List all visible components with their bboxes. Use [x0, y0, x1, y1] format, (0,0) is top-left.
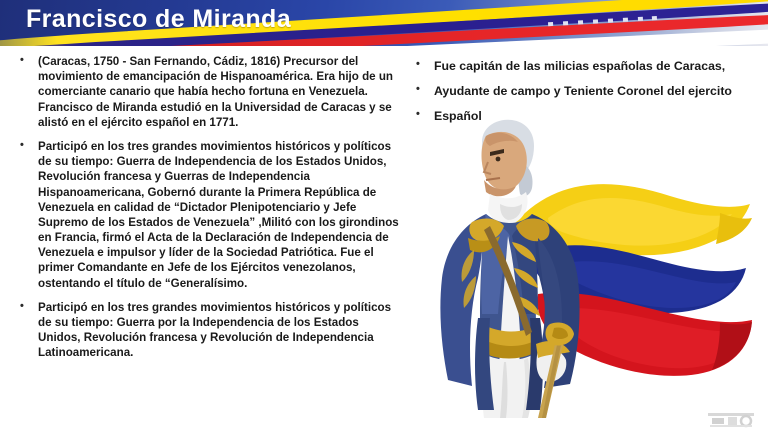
right-bullet-list: Fue capitán de las milicias españolas de…: [410, 58, 762, 124]
list-item: Participó en los tres grandes movimiento…: [14, 300, 404, 361]
list-item: Fue capitán de las milicias españolas de…: [410, 58, 762, 74]
flag-star: [593, 19, 598, 23]
left-bullet-list: (Caracas, 1750 - San Fernando, Cádiz, 18…: [14, 54, 404, 361]
flag-star: [563, 21, 568, 25]
watermark-logo: [706, 409, 758, 429]
flag-star: [548, 22, 553, 26]
list-item: Ayudante de campo y Teniente Coronel del…: [410, 83, 762, 99]
slide-header-banner: Francisco de Miranda: [0, 0, 768, 46]
flag-star: [578, 20, 583, 24]
flag-star: [608, 18, 613, 22]
flag-star: [652, 16, 657, 20]
slide: Francisco de Miranda (Caracas, 1750 - Sa…: [0, 0, 768, 433]
flag-star: [623, 18, 628, 22]
miranda-portrait-illustration: [420, 118, 768, 418]
list-item: Participó en los tres grandes movimiento…: [14, 139, 404, 291]
flag-star: [638, 17, 643, 21]
list-item: (Caracas, 1750 - San Fernando, Cádiz, 18…: [14, 54, 404, 130]
page-title: Francisco de Miranda: [26, 5, 291, 34]
left-content-column: (Caracas, 1750 - San Fernando, Cádiz, 18…: [14, 54, 404, 370]
miranda-figure: [440, 120, 579, 418]
